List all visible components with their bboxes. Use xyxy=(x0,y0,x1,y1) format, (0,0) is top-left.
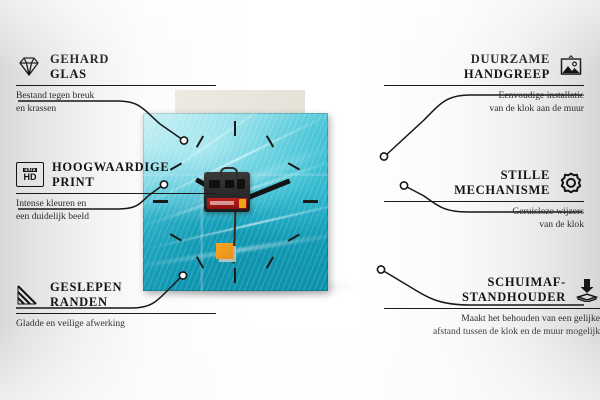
feature-stille-mechanisme: STILLE MECHANISME Geruisloze wijzers van… xyxy=(384,168,584,232)
feature-divider xyxy=(384,308,600,310)
mechanism-hanger xyxy=(220,167,238,177)
feature-description: Bestand tegen breuk en krassen xyxy=(16,90,216,116)
feature-schuimafstandhouder: SCHUIMAF- STANDHOUDER Maakt het behouden… xyxy=(384,275,600,339)
infographic-canvas: GEHARD GLAS Bestand tegen breuk en krass… xyxy=(0,0,600,400)
press-down-arrow-icon xyxy=(574,278,600,302)
feature-header: ultra HD HOOGWAARDIGE PRINT xyxy=(16,160,216,190)
ultra-hd-icon: ultra HD xyxy=(16,162,44,187)
foam-spacer xyxy=(216,243,233,259)
feature-header: DUURZAME HANDGREEP xyxy=(384,52,584,82)
hour-marker xyxy=(234,121,236,136)
feature-title: SCHUIMAF- STANDHOUDER xyxy=(384,275,566,305)
feature-divider xyxy=(16,193,216,195)
mechanism-slot xyxy=(225,180,234,188)
feature-description: Intense kleuren en een duidelijk beeld xyxy=(16,198,216,224)
feature-title: HOOGWAARDIGE PRINT xyxy=(52,160,169,190)
feature-title: GEHARD GLAS xyxy=(50,52,109,82)
connector-dot-schuim xyxy=(377,266,384,273)
feature-title: DUURZAME HANDGREEP xyxy=(384,52,550,82)
feature-header: SCHUIMAF- STANDHOUDER xyxy=(384,275,600,305)
feature-description: Eenvoudige installatie van de klok aan d… xyxy=(384,90,584,116)
gear-icon xyxy=(558,171,584,195)
feature-gehard-glas: GEHARD GLAS Bestand tegen breuk en krass… xyxy=(16,52,216,116)
feature-duurzame-handgreep: DUURZAME HANDGREEP Eenvoudige installati… xyxy=(384,52,584,116)
feature-description: Geruisloze wijzers van de klok xyxy=(384,206,584,232)
feature-divider xyxy=(384,201,584,203)
hour-marker xyxy=(303,200,318,203)
feature-geslepen-randen: GESLEPEN RANDEN Gladde en veilige afwerk… xyxy=(16,280,216,331)
feature-title: GESLEPEN RANDEN xyxy=(50,280,122,310)
connector-dot-handgreep xyxy=(380,153,387,160)
beveled-edges-icon xyxy=(16,283,42,307)
feature-divider xyxy=(16,85,216,87)
feature-header: GESLEPEN RANDEN xyxy=(16,280,216,310)
feature-description: Gladde en veilige afwerking xyxy=(16,318,216,331)
feature-divider xyxy=(16,313,216,315)
picture-frame-icon xyxy=(558,55,584,79)
feature-header: STILLE MECHANISME xyxy=(384,168,584,198)
feature-divider xyxy=(384,85,584,87)
feature-header: GEHARD GLAS xyxy=(16,52,216,82)
feature-description: Maakt het behouden van een gelijke afsta… xyxy=(384,313,600,339)
hour-marker xyxy=(234,268,236,283)
battery-plus-terminal xyxy=(239,199,246,208)
diamond-icon xyxy=(16,55,42,79)
feature-title: STILLE MECHANISME xyxy=(384,168,550,198)
mechanism-slot xyxy=(237,179,245,189)
feature-hoogwaardige-print: ultra HD HOOGWAARDIGE PRINT Intense kleu… xyxy=(16,160,216,224)
